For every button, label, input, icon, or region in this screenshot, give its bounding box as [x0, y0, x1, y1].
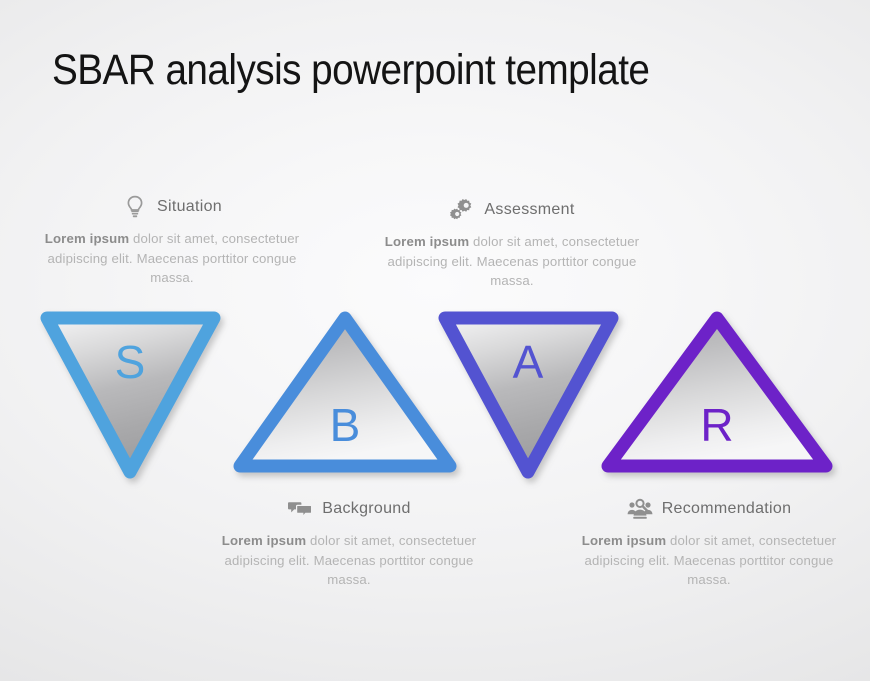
lightbulb-icon — [122, 194, 148, 220]
slide-canvas: SBAR analysis powerpoint template — [0, 0, 870, 681]
gears-icon — [449, 197, 475, 223]
caption-recommendation-text: Lorem ipsum dolor sit amet, consectetuer… — [565, 531, 853, 590]
caption-assessment-lead: Lorem ipsum — [385, 234, 469, 249]
caption-situation: Situation Lorem ipsum dolor sit amet, co… — [28, 192, 316, 288]
caption-recommendation: Recommendation Lorem ipsum dolor sit ame… — [565, 494, 853, 590]
triangle-letter-background: B — [330, 399, 361, 451]
caption-assessment-text: Lorem ipsum dolor sit amet, consectetuer… — [368, 232, 656, 291]
caption-assessment-header: Assessment — [368, 195, 656, 225]
caption-background-label: Background — [322, 500, 410, 518]
caption-situation-text: Lorem ipsum dolor sit amet, consectetuer… — [28, 229, 316, 288]
caption-background-text: Lorem ipsum dolor sit amet, consectetuer… — [205, 531, 493, 590]
caption-background: Background Lorem ipsum dolor sit amet, c… — [205, 494, 493, 590]
caption-situation-header: Situation — [28, 192, 316, 222]
page-title: SBAR analysis powerpoint template — [52, 44, 754, 96]
triangle-letter-assessment: A — [513, 336, 544, 388]
caption-situation-lead: Lorem ipsum — [45, 231, 129, 246]
speech-bubbles-icon — [287, 496, 313, 522]
sbar-triangles-group: S B A R — [0, 296, 870, 496]
caption-recommendation-lead: Lorem ipsum — [582, 533, 666, 548]
triangle-assessment[interactable]: A — [445, 318, 612, 472]
triangle-letter-recommendation: R — [700, 399, 733, 451]
people-group-icon — [627, 496, 653, 522]
triangle-recommendation[interactable]: R — [608, 318, 826, 466]
caption-assessment-label: Assessment — [484, 201, 574, 219]
caption-assessment: Assessment Lorem ipsum dolor sit amet, c… — [368, 195, 656, 291]
caption-background-header: Background — [205, 494, 493, 524]
triangle-letter-situation: S — [115, 336, 146, 388]
caption-recommendation-label: Recommendation — [662, 500, 792, 518]
caption-background-lead: Lorem ipsum — [222, 533, 306, 548]
triangle-background[interactable]: B — [240, 318, 450, 466]
caption-situation-label: Situation — [157, 198, 222, 216]
caption-recommendation-header: Recommendation — [565, 494, 853, 524]
triangle-situation[interactable]: S — [47, 318, 214, 472]
